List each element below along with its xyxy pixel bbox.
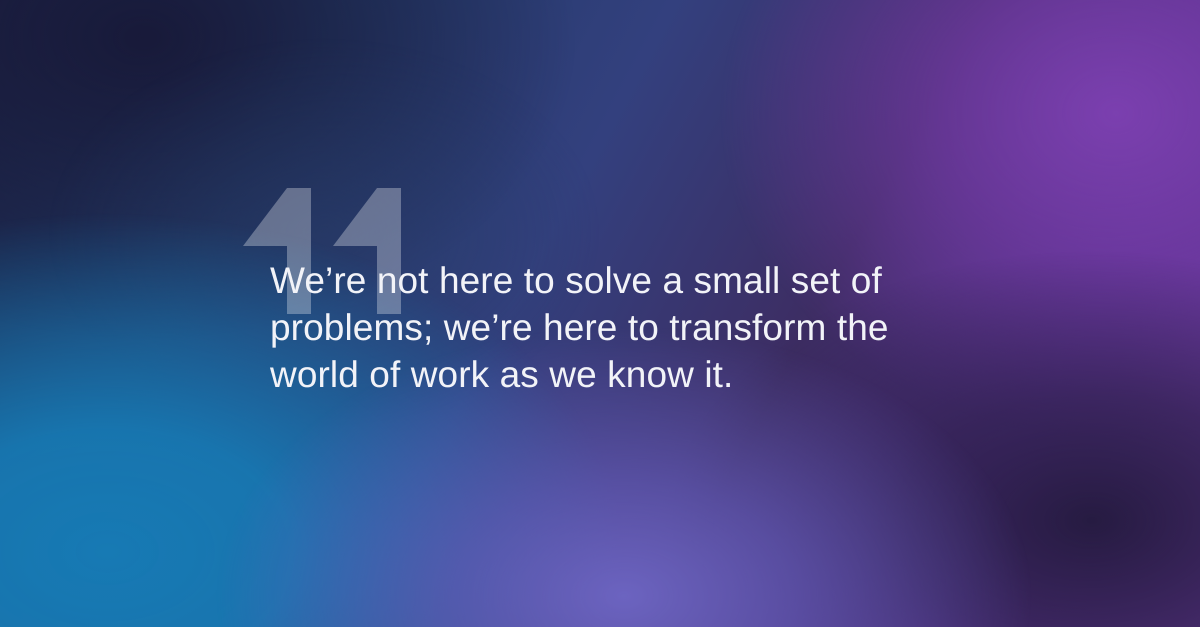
quote-line: problems; we’re here to transform the [270, 304, 910, 351]
quote-text: We’re not here to solve a small set of p… [270, 257, 910, 398]
quote-line: We’re not here to solve a small set of [270, 257, 910, 304]
quote-line: world of work as we know it. [270, 351, 910, 398]
quote-card: We’re not here to solve a small set of p… [0, 0, 1200, 627]
blockquote: We’re not here to solve a small set of p… [243, 188, 943, 329]
